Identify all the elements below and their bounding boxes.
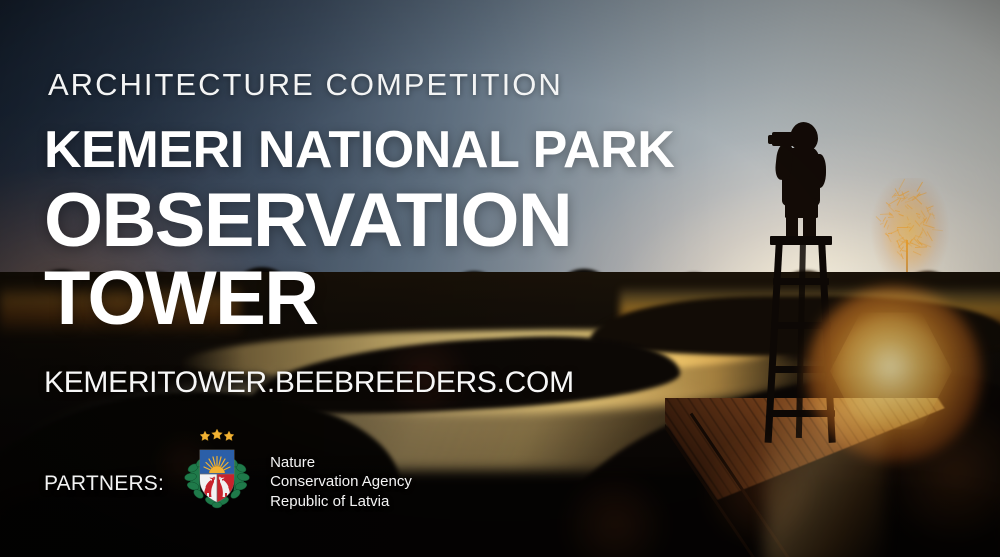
page-title-line3: TOWER xyxy=(44,263,317,336)
poster-content: ARCHITECTURE COMPETITION KEMERI NATIONAL… xyxy=(0,0,1000,557)
partner-line-1: Nature xyxy=(270,453,412,473)
partner-line-2: Conservation Agency xyxy=(270,472,412,492)
latvia-coat-of-arms-logo xyxy=(180,428,254,514)
page-title-line2: OBSERVATION xyxy=(44,185,571,258)
partners-section: PARTNERS: xyxy=(44,428,412,514)
competition-url-link[interactable]: KEMERITOWER.BEEBREEDERS.COM xyxy=(44,368,574,398)
crest-shield xyxy=(199,449,235,504)
crest-stars xyxy=(200,429,234,441)
page-title-line1: KEMERI NATIONAL PARK xyxy=(44,124,674,176)
competition-eyebrow: ARCHITECTURE COMPETITION xyxy=(48,69,563,100)
partner-line-3: Republic of Latvia xyxy=(270,492,412,512)
poster-canvas: ARCHITECTURE COMPETITION KEMERI NATIONAL… xyxy=(0,0,1000,557)
partner-organisation-name: Nature Conservation Agency Republic of L… xyxy=(270,431,412,512)
partners-label: PARTNERS: xyxy=(44,446,164,496)
